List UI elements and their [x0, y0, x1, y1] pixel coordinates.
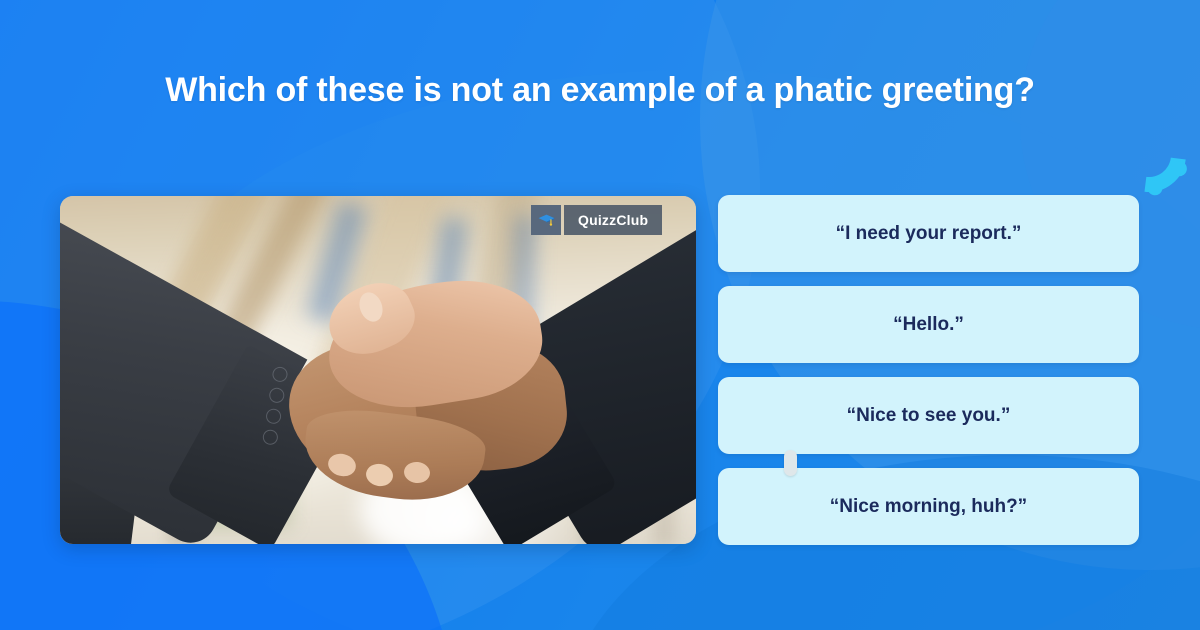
answer-option-1[interactable]: “I need your report.” — [718, 195, 1139, 272]
graduation-cap-icon — [531, 205, 561, 235]
photo-scene — [60, 196, 696, 544]
answer-option-4[interactable]: “Nice morning, huh?” — [718, 468, 1139, 545]
page-title: Which of these is not an example of a ph… — [0, 70, 1200, 111]
watermark-brand: QuizzClub — [564, 205, 662, 235]
answer-options-list: “I need your report.” “Hello.” “Nice to … — [718, 195, 1139, 545]
option-divider-notch — [784, 450, 797, 476]
answer-option-3[interactable]: “Nice to see you.” — [718, 377, 1139, 454]
question-image: QuizzClub — [60, 196, 696, 544]
quiz-card: Which of these is not an example of a ph… — [0, 0, 1200, 630]
answer-option-2[interactable]: “Hello.” — [718, 286, 1139, 363]
watermark-badge: QuizzClub — [531, 205, 662, 235]
